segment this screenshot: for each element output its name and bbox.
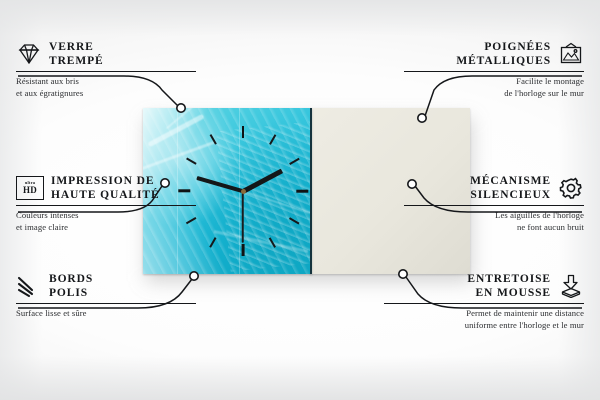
clock-tick (210, 134, 217, 144)
infographic-canvas: VERRETREMPÉ Résistant aux briset aux égr… (0, 0, 600, 400)
feature-header: BORDSPOLIS (16, 272, 196, 300)
feature-title: IMPRESSION DEHAUTE QUALITÉ (51, 174, 160, 202)
clock-tick (210, 237, 217, 247)
feature-rule (16, 71, 196, 72)
framed-picture-hook-icon (558, 42, 584, 66)
feature-header: MÉCANISMESILENCIEUX (404, 174, 584, 202)
feature-title: ENTRETOISEEN MOUSSE (467, 272, 551, 300)
feature-impression-haute-qualite[interactable]: ultra HD IMPRESSION DEHAUTE QUALITÉ Coul… (16, 174, 196, 234)
feature-mecanisme-silencieux[interactable]: MÉCANISMESILENCIEUX Les aiguilles de l'h… (404, 174, 584, 234)
clock-tick (269, 237, 276, 247)
feature-rule (404, 71, 584, 72)
feature-entretoise-en-mousse[interactable]: ENTRETOISEEN MOUSSE Permet de maintenir … (384, 272, 584, 332)
feature-header: ENTRETOISEEN MOUSSE (384, 272, 584, 300)
feature-subtitle: Couleurs intenseset image claire (16, 210, 196, 233)
feature-rule (404, 205, 584, 206)
gear-icon (558, 176, 584, 200)
feature-bords-polis[interactable]: BORDSPOLIS Surface lisse et sûre (16, 272, 196, 320)
clock-tick (289, 217, 299, 224)
feature-title: MÉCANISMESILENCIEUX (470, 174, 551, 202)
clock-second-hand (242, 191, 244, 243)
clock-face (178, 126, 308, 256)
feature-title: POIGNÉESMÉTALLIQUES (456, 40, 551, 68)
feature-subtitle: Résistant aux briset aux égratignures (16, 76, 196, 99)
feature-rule (16, 303, 196, 304)
clock-center-cap (241, 189, 246, 194)
clock-tick (296, 190, 308, 193)
feature-header: POIGNÉESMÉTALLIQUES (404, 40, 584, 68)
feature-header: VERRETREMPÉ (16, 40, 196, 68)
clock-minute-hand (196, 176, 243, 193)
clock-tick (269, 134, 276, 144)
feature-subtitle: Permet de maintenir une distanceuniforme… (384, 308, 584, 331)
feature-poignees-metalliques[interactable]: POIGNÉESMÉTALLIQUES Facilite le montaged… (404, 40, 584, 100)
clock-tick (242, 244, 245, 256)
clock-tick (186, 158, 196, 165)
feature-subtitle: Surface lisse et sûre (16, 308, 196, 320)
feature-rule (384, 303, 584, 304)
diamond-icon (16, 42, 42, 66)
polished-edges-icon (16, 274, 42, 298)
foam-spacer-arrow-icon (558, 274, 584, 298)
ultra-hd-icon: ultra HD (16, 176, 44, 200)
clock-hour-hand (242, 168, 283, 193)
feature-subtitle: Les aiguilles de l'horlogene font aucun … (404, 210, 584, 233)
clock-tick (289, 158, 299, 165)
feature-title: VERRETREMPÉ (49, 40, 104, 68)
feature-title: BORDSPOLIS (49, 272, 93, 300)
feature-verre-trempe[interactable]: VERRETREMPÉ Résistant aux briset aux égr… (16, 40, 196, 100)
clock-tick (242, 126, 245, 138)
feature-header: ultra HD IMPRESSION DEHAUTE QUALITÉ (16, 174, 196, 202)
feature-subtitle: Facilite le montagede l'horloge sur le m… (404, 76, 584, 99)
feature-rule (16, 205, 196, 206)
